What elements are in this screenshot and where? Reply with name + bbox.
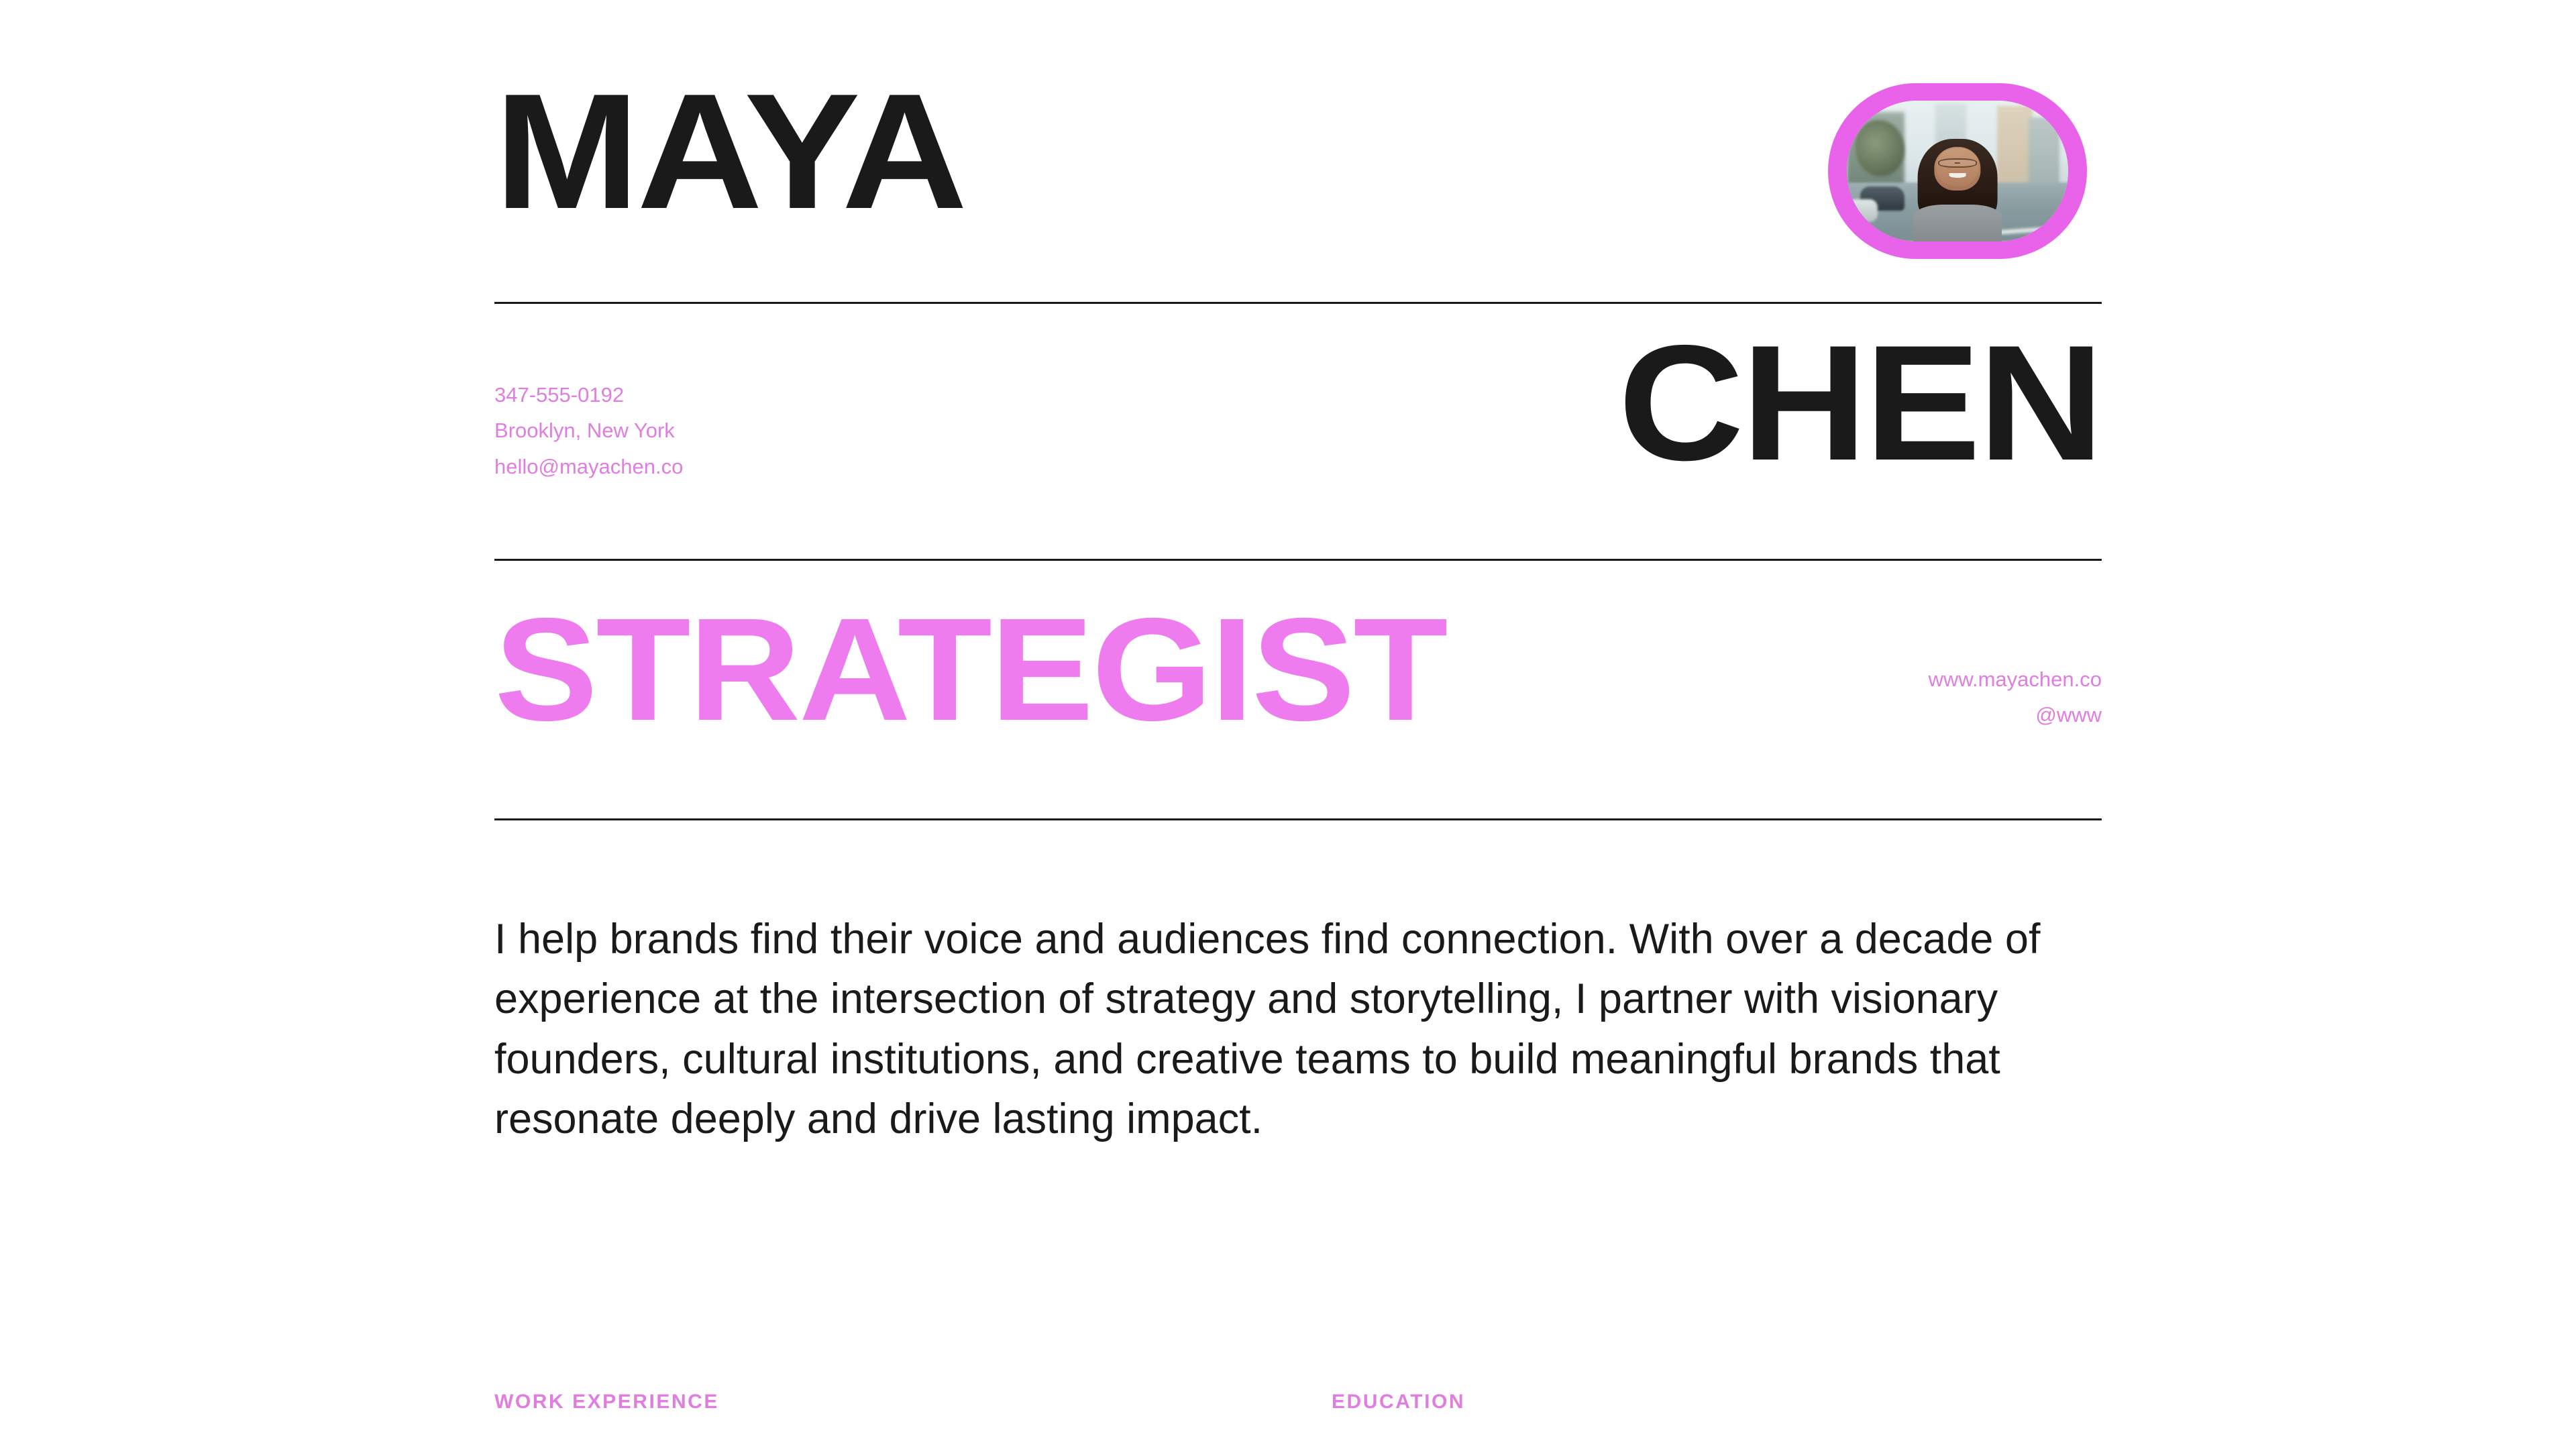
photo-building-right-2 (2029, 117, 2059, 188)
section-heading-education: EDUCATION (1332, 1391, 1465, 1413)
contact-block: 347-555-0192 Brooklyn, New York hello@ma… (494, 377, 683, 484)
link-social[interactable]: @www (1929, 697, 2102, 733)
contact-location: Brooklyn, New York (494, 413, 683, 448)
section-heading-work-experience: WORK EXPERIENCE (494, 1391, 719, 1413)
links-block: www.mayachen.co @www (1929, 661, 2102, 733)
photo-tree (1856, 120, 1904, 176)
contact-email[interactable]: hello@mayachen.co (494, 449, 683, 484)
divider-lower (494, 818, 2102, 820)
glasses-icon (1938, 158, 1977, 168)
summary-paragraph: I help brands find their voice and audie… (494, 910, 2104, 1150)
avatar (1828, 83, 2087, 259)
photo-person-face (1937, 148, 1979, 186)
last-name-heading: CHEN (1619, 332, 2102, 474)
divider-middle (494, 559, 2102, 561)
role-title: STRATEGIST (494, 607, 1446, 733)
resume-page: MAYA 347-555-0192 Brooklyn, New York hel… (0, 0, 2576, 1449)
photo-car-light (1847, 199, 1878, 222)
photo-person-body (1913, 205, 2002, 241)
divider-top (494, 302, 2102, 304)
contact-phone[interactable]: 347-555-0192 (494, 377, 683, 413)
photo-person-smile (1949, 173, 1966, 178)
first-name-heading: MAYA (494, 80, 965, 222)
link-website[interactable]: www.mayachen.co (1929, 661, 2102, 697)
avatar-photo (1847, 101, 2068, 241)
photo-building-right-1 (1997, 106, 2033, 185)
